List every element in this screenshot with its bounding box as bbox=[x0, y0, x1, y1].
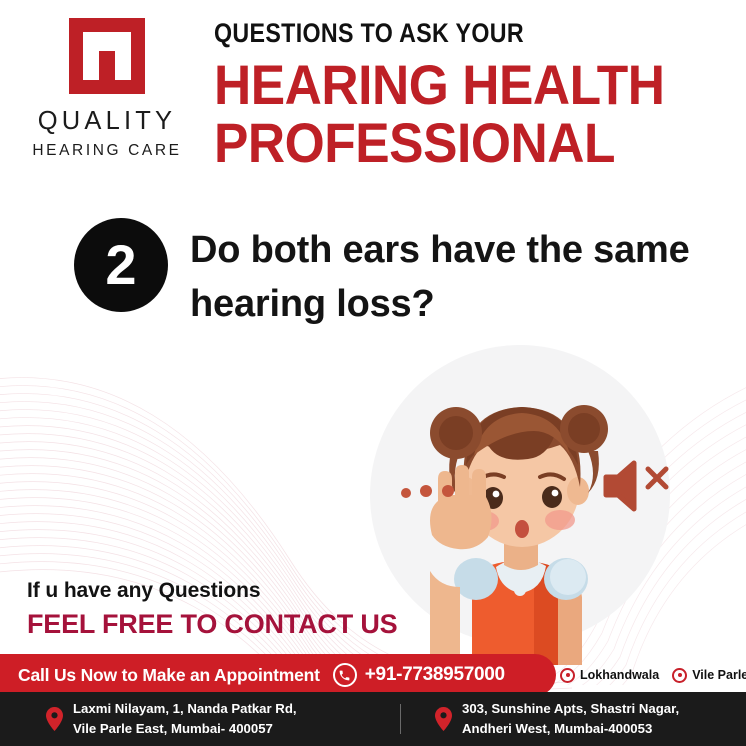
poster-footer: Laxmi Nilayam, 1, Nanda Patkar Rd, Vile … bbox=[0, 692, 746, 746]
brand-logo: QUALITY HEARING CARE bbox=[16, 18, 198, 158]
address-line1: Laxmi Nilayam, 1, Nanda Patkar Rd, bbox=[73, 701, 297, 716]
header-kicker: QUESTIONS TO ASK YOUR bbox=[214, 20, 661, 47]
poster-canvas: QUALITY HEARING CARE QUESTIONS TO ASK YO… bbox=[0, 0, 746, 746]
map-pin-icon bbox=[435, 707, 452, 731]
location-pin-icon bbox=[672, 668, 687, 683]
header-text-block: QUESTIONS TO ASK YOUR HEARING HEALTH PRO… bbox=[214, 20, 734, 171]
address-line1: 303, Sunshine Apts, Shastri Nagar, bbox=[462, 701, 679, 716]
question-block: 2 Do both ears have the same hearing los… bbox=[0, 218, 746, 332]
branch-badge-lokhandwala[interactable]: Lokhandwala bbox=[560, 668, 659, 683]
address-text: Laxmi Nilayam, 1, Nanda Patkar Rd, Vile … bbox=[73, 699, 297, 739]
address-block-vile-parle: Laxmi Nilayam, 1, Nanda Patkar Rd, Vile … bbox=[46, 699, 386, 739]
address-line2: Andheri West, Mumbai-400053 bbox=[462, 721, 652, 736]
branch-badge-vile-parle[interactable]: Vile Parle bbox=[672, 668, 746, 683]
address-line2: Vile Parle East, Mumbai- 400057 bbox=[73, 721, 273, 736]
cta-block: If u have any Questions FEEL FREE TO CON… bbox=[27, 578, 397, 641]
speaker-muted-icon bbox=[606, 463, 666, 509]
question-number-badge: 2 bbox=[74, 218, 168, 312]
location-pin-icon bbox=[560, 668, 575, 683]
brand-name-line2: HEARING CARE bbox=[16, 143, 198, 159]
brand-name-line1: QUALITY bbox=[16, 109, 198, 135]
poster-header: QUALITY HEARING CARE QUESTIONS TO ASK YO… bbox=[0, 0, 746, 186]
phone-link[interactable]: +91-7738957000 bbox=[333, 663, 505, 687]
quality-hearing-care-mark-icon bbox=[69, 18, 145, 94]
logo-notch-shape bbox=[99, 51, 115, 80]
header-title-line2: PROFESSIONAL bbox=[214, 114, 692, 171]
question-text: Do both ears have the same hearing loss? bbox=[190, 224, 700, 332]
header-title-line1: HEARING HEALTH bbox=[214, 56, 692, 113]
cta-line2: FEEL FREE TO CONTACT US bbox=[27, 608, 397, 640]
address-block-andheri-west: 303, Sunshine Apts, Shastri Nagar, Andhe… bbox=[435, 699, 679, 739]
branch-badges: Lokhandwala Vile Parle bbox=[560, 654, 746, 696]
appointment-bar-text: Call Us Now to Make an Appointment bbox=[18, 665, 320, 686]
map-pin-icon bbox=[46, 707, 63, 731]
cta-line1: If u have any Questions bbox=[27, 578, 397, 604]
address-text: 303, Sunshine Apts, Shastri Nagar, Andhe… bbox=[462, 699, 679, 739]
branch-label: Lokhandwala bbox=[580, 668, 659, 682]
branch-label: Vile Parle bbox=[692, 668, 746, 682]
illustration-girl-cupping-ear bbox=[362, 345, 682, 665]
footer-divider bbox=[400, 704, 401, 734]
phone-icon bbox=[333, 663, 357, 687]
girl-illustration-svg bbox=[362, 345, 682, 665]
phone-number: +91-7738957000 bbox=[365, 664, 505, 686]
appointment-bar: Call Us Now to Make an Appointment +91-7… bbox=[0, 654, 556, 696]
